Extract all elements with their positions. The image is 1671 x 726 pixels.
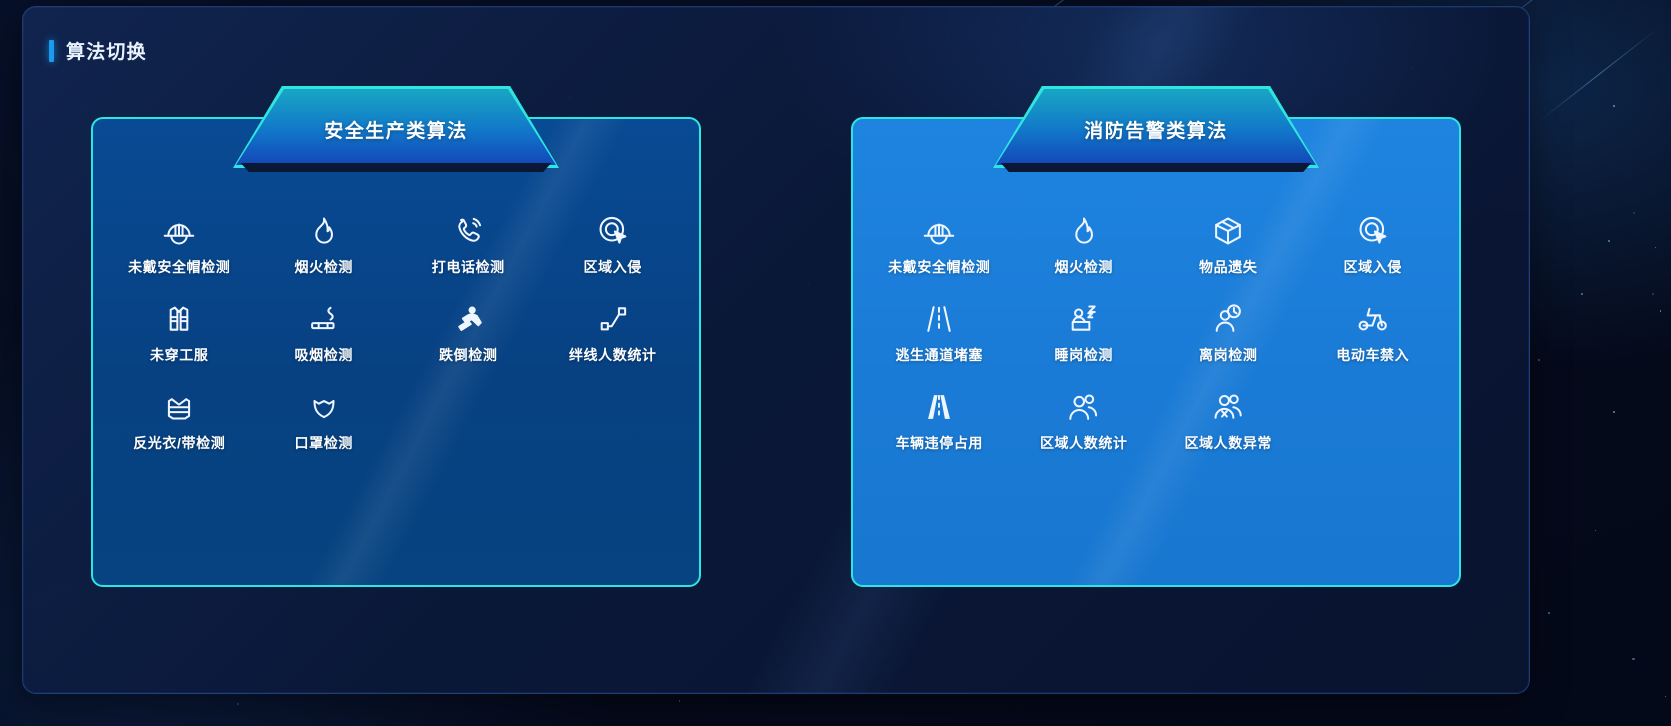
- star-dot: [1632, 658, 1634, 660]
- algorithm-item-label: 绊线人数统计: [569, 345, 657, 365]
- helmet-icon: [159, 211, 199, 251]
- algorithm-item-fire-alarm-6[interactable]: 离岗检测: [1156, 299, 1301, 371]
- algorithm-item-safety-production-8[interactable]: 反光衣/带检测: [107, 387, 252, 459]
- algorithm-item-label: 离岗检测: [1199, 345, 1257, 365]
- area-intrusion-icon: [593, 211, 633, 251]
- blocked-escape-route-icon: [919, 299, 959, 339]
- algorithm-panels: 安全生产类算法 未戴安全帽检测烟火检测打电话检测区域入侵未穿工服吸烟检测跌倒检测…: [23, 117, 1529, 587]
- helmet-icon: [919, 211, 959, 251]
- algorithm-item-fire-alarm-2[interactable]: 物品遗失: [1156, 211, 1301, 283]
- algorithm-item-fire-alarm-10[interactable]: 区域人数异常: [1156, 387, 1301, 459]
- algorithm-item-fire-alarm-5[interactable]: 睡岗检测: [1012, 299, 1157, 371]
- illegal-parking-icon: [919, 387, 959, 427]
- algorithm-item-fire-alarm-3[interactable]: 区域入侵: [1301, 211, 1446, 283]
- page-title: 算法切换: [66, 37, 147, 64]
- algorithm-item-label: 打电话检测: [432, 257, 505, 277]
- cigarette-icon: [304, 299, 344, 339]
- algorithm-item-label: 物品遗失: [1199, 257, 1257, 277]
- algorithm-item-label: 区域入侵: [1344, 257, 1402, 277]
- people-count-icon: [1064, 387, 1104, 427]
- phone-call-icon: [448, 211, 488, 251]
- algorithm-item-label: 车辆违停占用: [895, 433, 983, 453]
- algorithm-item-label: 区域入侵: [584, 257, 642, 277]
- star-dot: [1655, 247, 1656, 248]
- work-vest-icon: [159, 299, 199, 339]
- algorithm-item-fire-alarm-0[interactable]: 未戴安全帽检测: [867, 211, 1012, 283]
- algorithm-item-fire-alarm-9[interactable]: 区域人数统计: [1012, 387, 1157, 459]
- algorithm-item-safety-production-3[interactable]: 区域入侵: [541, 211, 686, 283]
- algorithm-grid-safety-production: 未戴安全帽检测烟火检测打电话检测区域入侵未穿工服吸烟检测跌倒检测绊线人数统计反光…: [93, 211, 699, 459]
- algorithm-item-fire-alarm-4[interactable]: 逃生通道堵塞: [867, 299, 1012, 371]
- algorithm-item-label: 区域人数异常: [1184, 433, 1272, 453]
- algorithm-item-fire-alarm-8[interactable]: 车辆违停占用: [867, 387, 1012, 459]
- panel-header-tab-fire-alarm[interactable]: 消防告警类算法: [996, 89, 1316, 165]
- algorithm-item-label: 逃生通道堵塞: [895, 345, 983, 365]
- off-duty-icon: [1208, 299, 1248, 339]
- algorithm-item-fire-alarm-7[interactable]: 电动车禁入: [1301, 299, 1446, 371]
- panel-header-label: 安全生产类算法: [236, 89, 556, 165]
- page-title-row: 算法切换: [49, 37, 147, 64]
- panel-header-tab-safety-production[interactable]: 安全生产类算法: [236, 89, 556, 165]
- algorithm-item-label: 未戴安全帽检测: [888, 257, 990, 277]
- algorithm-item-safety-production-4[interactable]: 未穿工服: [107, 299, 252, 371]
- algorithm-item-safety-production-6[interactable]: 跌倒检测: [396, 299, 541, 371]
- algorithm-item-label: 口罩检测: [295, 433, 353, 453]
- sleeping-on-duty-icon: [1064, 299, 1104, 339]
- light-streak: [1540, 28, 1659, 121]
- star-dot: [1608, 240, 1610, 242]
- algorithm-item-label: 烟火检测: [295, 257, 353, 277]
- star-dot: [679, 700, 681, 702]
- face-mask-icon: [304, 387, 344, 427]
- algorithm-item-label: 未穿工服: [150, 345, 208, 365]
- star-dot: [1538, 359, 1540, 361]
- algorithm-item-fire-alarm-1[interactable]: 烟火检测: [1012, 211, 1157, 283]
- star-dot: [1660, 310, 1661, 311]
- title-accent-bar: [49, 40, 54, 62]
- lost-item-box-icon: [1208, 211, 1248, 251]
- star-dot: [1665, 696, 1667, 698]
- algorithm-item-label: 区域人数统计: [1040, 433, 1128, 453]
- algorithm-item-label: 烟火检测: [1055, 257, 1113, 277]
- star-dot: [1613, 411, 1615, 413]
- algorithm-item-safety-production-2[interactable]: 打电话检测: [396, 211, 541, 283]
- panel-safety-production[interactable]: 安全生产类算法 未戴安全帽检测烟火检测打电话检测区域入侵未穿工服吸烟检测跌倒检测…: [91, 117, 701, 587]
- star-dot: [1548, 612, 1550, 614]
- star-dot: [1633, 212, 1635, 214]
- star-dot: [1595, 530, 1596, 531]
- algorithm-grid-fire-alarm: 未戴安全帽检测烟火检测物品遗失区域入侵逃生通道堵塞睡岗检测离岗检测电动车禁入车辆…: [853, 211, 1459, 459]
- algorithm-item-label: 跌倒检测: [439, 345, 497, 365]
- algorithm-item-safety-production-7[interactable]: 绊线人数统计: [541, 299, 686, 371]
- main-frame: 算法切换 安全生产类算法 未戴安全帽检测烟火检测打电话检测区域入侵未穿工服吸烟检…: [22, 6, 1530, 694]
- star-dot: [1613, 105, 1615, 107]
- panel-header-label: 消防告警类算法: [996, 89, 1316, 165]
- algorithm-item-label: 睡岗检测: [1055, 345, 1113, 365]
- algorithm-item-safety-production-1[interactable]: 烟火检测: [252, 211, 397, 283]
- star-dot: [1581, 293, 1583, 295]
- people-abnormal-icon: [1208, 387, 1248, 427]
- flame-icon: [304, 211, 344, 251]
- algorithm-item-label: 反光衣/带检测: [133, 433, 225, 453]
- algorithm-item-label: 吸烟检测: [295, 345, 353, 365]
- algorithm-item-label: 未戴安全帽检测: [128, 257, 230, 277]
- algorithm-item-label: 电动车禁入: [1336, 345, 1409, 365]
- flame-icon: [1064, 211, 1104, 251]
- fall-down-icon: [448, 299, 488, 339]
- algorithm-item-safety-production-0[interactable]: 未戴安全帽检测: [107, 211, 252, 283]
- tripwire-count-icon: [593, 299, 633, 339]
- panel-fire-alarm[interactable]: 消防告警类算法 未戴安全帽检测烟火检测物品遗失区域入侵逃生通道堵塞睡岗检测离岗检…: [851, 117, 1461, 587]
- reflective-vest-icon: [159, 387, 199, 427]
- star-dot: [1652, 293, 1654, 295]
- e-bike-forbidden-icon: [1353, 299, 1393, 339]
- algorithm-item-safety-production-9[interactable]: 口罩检测: [252, 387, 397, 459]
- area-intrusion-icon: [1353, 211, 1393, 251]
- star-dot: [237, 703, 239, 705]
- algorithm-item-safety-production-5[interactable]: 吸烟检测: [252, 299, 397, 371]
